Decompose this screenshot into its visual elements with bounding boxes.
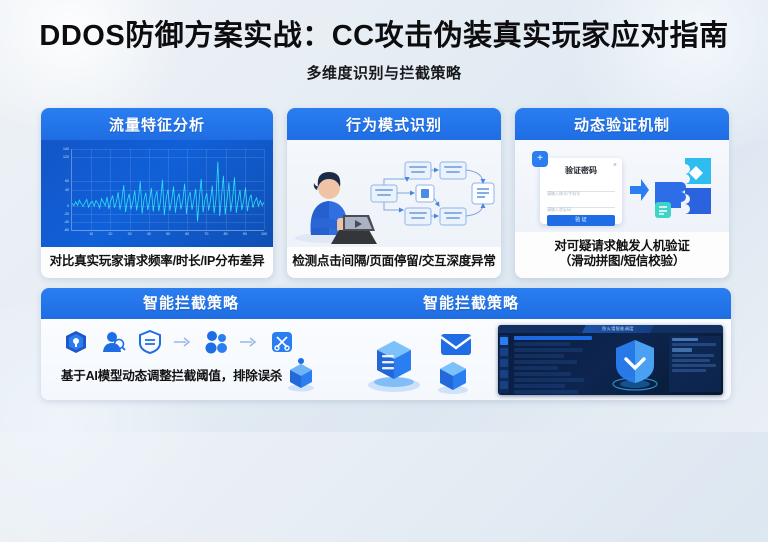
chart-ytick-label: 40 [65,188,69,192]
card-caption-verification: 对可疑请求触发人机验证 （滑动拼图/短信校验） [515,232,729,278]
card-caption-traffic: 对比真实玩家请求频率/时长/IP分布差异 [41,247,273,278]
dialog-badge-icon: + [532,151,548,167]
chart-xtick-label: 40 [147,232,151,236]
shield-download-icon [606,337,664,393]
chart-gridline-v [130,149,131,230]
card-header-behavior: 行为模式识别 [287,108,501,140]
shield-hex-icon[interactable] [63,329,89,355]
chart-xtick-label: 90 [243,232,247,236]
dashboard-list-row[interactable] [514,360,577,364]
chart-gridline-v [91,149,92,230]
card-body-traffic: 14012060400-20-40-6010203040506070809010… [41,140,273,247]
chart-ytick-label: 60 [65,179,69,183]
chart-ytick-label: -20 [64,212,69,216]
dashboard-list-row[interactable] [514,366,558,370]
chart-ytick-label: 0 [67,204,69,208]
bottom-caption: 基于AI模型动态调整拦截阈值，排除误杀 [61,365,282,384]
chart-plot-area: 14012060400-20-40-6010203040506070809010… [71,149,264,231]
puzzle-pieces-illustration [649,152,717,230]
dashboard-list-row[interactable] [514,384,565,388]
user-icon[interactable] [100,329,126,355]
firewall-dashboard[interactable]: 防火墙智能调度 [498,325,723,395]
dashboard-list-row[interactable] [514,372,571,376]
account-field[interactable]: 请输入账号/手机号 [547,182,615,192]
card-row: 流量特征分析 14012060400-20-40-601020304050607… [41,108,731,278]
arrow-right-icon [628,162,650,218]
card-header-verification: 动态验证机制 [515,108,729,140]
card-body-verification: + × 验证密码 请输入账号/手机号 请输入验证码 验 证 [515,140,729,232]
chart-xtick-label: 30 [128,232,132,236]
arrow-right-icon [174,337,192,347]
package-box-icon [284,357,318,393]
arrow-right-icon [240,337,258,347]
chart-xtick-label: 50 [166,232,170,236]
dashboard-list-row[interactable] [514,354,564,358]
bottom-header-right: 智能拦截策略 [341,288,601,319]
card-behavior-pattern[interactable]: 行为模式识别 [287,108,501,278]
package-box-icon [433,357,473,395]
dashboard-list-row[interactable] [514,336,592,340]
chart-xtick-label: 70 [204,232,208,236]
chart-gridline-v [187,149,188,230]
chart-gridline-v [149,149,150,230]
dashboard-list[interactable] [514,336,592,395]
server-rack-icon [363,333,425,395]
chart-xtick-label: 60 [185,232,189,236]
card-header-traffic: 流量特征分析 [41,108,273,140]
behavior-flowchart [371,162,494,225]
card-body-behavior [287,140,501,247]
chart-xtick-label: 10 [89,232,93,236]
chart-xtick-label: 20 [108,232,112,236]
chart-gridline-h [72,230,264,231]
dashboard-list-row[interactable] [514,342,570,346]
behavior-illustration [287,140,501,247]
mail-icon [439,331,473,357]
account-field-placeholder: 请输入账号/手机号 [547,191,580,196]
code-field[interactable]: 请输入验证码 [547,198,615,208]
card-traffic-analysis[interactable]: 流量特征分析 14012060400-20-40-601020304050607… [41,108,273,278]
bottom-header-left: 智能拦截策略 [41,288,341,319]
chart-ytick-label: -60 [64,228,69,232]
chart-gridline-v [264,149,265,230]
dashboard-topbar: 防火墙智能调度 [498,325,723,333]
dashboard-list-row[interactable] [514,390,578,394]
close-icon[interactable]: × [613,162,617,169]
caption-line-2: （滑动拼图/短信校验） [519,254,725,269]
bottom-panel[interactable]: 智能拦截策略 智能拦截策略 [41,288,731,400]
chart-gridline-v [110,149,111,230]
dashboard-detail-panel[interactable] [669,336,721,392]
captcha-dialog[interactable]: + × 验证密码 请输入账号/手机号 请输入验证码 验 证 [540,158,622,224]
submit-button[interactable]: 验 证 [547,215,615,226]
strategy-icon-row [63,329,295,355]
dashboard-list-row[interactable] [514,348,583,352]
page-title: DDOS防御方案实战：CC攻击伪装真实玩家应对指南 [0,16,768,56]
chart-gridline-v [168,149,169,230]
scissors-box-icon[interactable] [269,329,295,355]
dashboard-sidebar-rail[interactable] [499,335,509,393]
page-subtitle: 多维度识别与拦截策略 [0,62,768,83]
title-block: DDOS防御方案实战：CC攻击伪装真实玩家应对指南 多维度识别与拦截策略 [0,16,768,83]
card-caption-behavior: 检测点击间隔/页面停留/交互深度异常 [287,247,501,278]
shield-doc-icon[interactable] [137,329,163,355]
chart-ytick-label: 120 [63,155,69,159]
chart-xtick-label: 100 [261,232,267,236]
chart-gridline-v [206,149,207,230]
bottom-panel-body: 基于AI模型动态调整拦截阈值，排除误杀 [41,319,731,400]
chart-gridline-v [226,149,227,230]
code-field-placeholder: 请输入验证码 [547,207,571,212]
person-at-laptop-illustration [295,172,377,244]
dialog-title: 验证密码 [540,165,622,176]
chart-ytick-label: -40 [64,220,69,224]
caption-line-1: 对可疑请求触发人机验证 [519,239,725,254]
card-dynamic-verification[interactable]: 动态验证机制 + × 验证密码 请输入账号/手机号 请输入验证码 验 证 [515,108,729,278]
bottom-panel-header: 智能拦截策略 智能拦截策略 [41,288,731,319]
traffic-waveform-chart: 14012060400-20-40-6010203040506070809010… [41,140,273,247]
dashboard-title-banner: 防火墙智能调度 [582,325,654,333]
dashboard-title: 防火墙智能调度 [582,325,654,333]
user-group-icon[interactable] [203,329,229,355]
dashboard-list-row[interactable] [514,378,584,382]
chart-xtick-label: 80 [224,232,228,236]
chart-ytick-label: 140 [63,147,69,151]
chart-gridline-v [245,149,246,230]
